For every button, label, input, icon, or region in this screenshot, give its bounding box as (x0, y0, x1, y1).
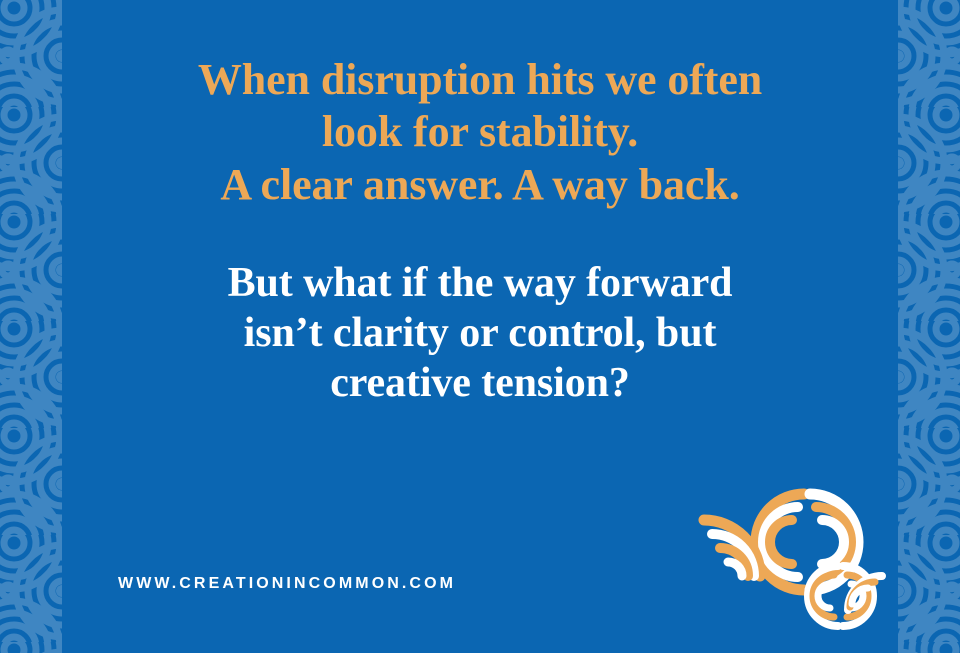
headline-line-1: When disruption hits we often (62, 54, 898, 106)
message-block: When disruption hits we often look for s… (62, 54, 898, 409)
headline-line-3: A clear answer. A way back. (62, 159, 898, 211)
right-border-pattern (898, 0, 960, 653)
website-url[interactable]: WWW.CREATIONINCOMMON.COM (118, 575, 456, 593)
creation-in-common-logo-icon (686, 484, 886, 634)
left-border-pattern (0, 0, 62, 653)
subheadline: But what if the way forward isn’t clarit… (62, 259, 898, 409)
paragraph-spacer (62, 211, 898, 259)
headline: When disruption hits we often look for s… (62, 54, 898, 211)
subheadline-line-2: isn’t clarity or control, but (62, 309, 898, 359)
slide-canvas: When disruption hits we often look for s… (0, 0, 960, 653)
headline-line-2: look for stability. (62, 106, 898, 158)
subheadline-line-1: But what if the way forward (62, 259, 898, 309)
subheadline-line-3: creative tension? (62, 359, 898, 409)
